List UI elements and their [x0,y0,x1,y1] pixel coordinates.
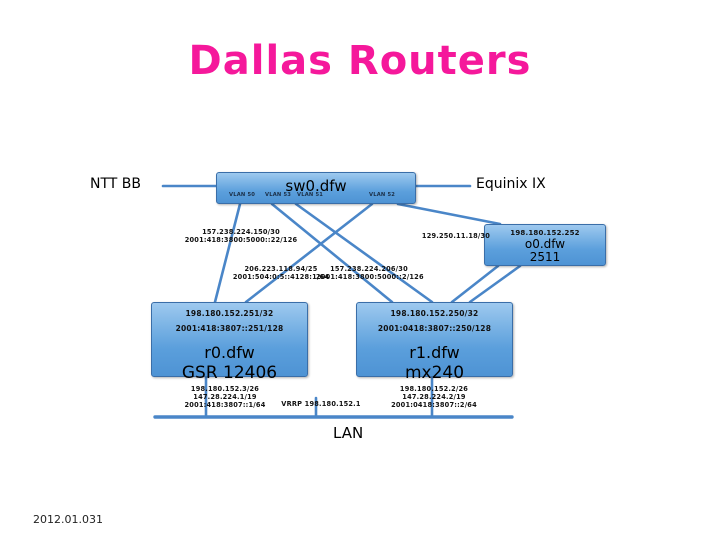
r1-address-2: 2001:0418:3807::250/128 [357,318,512,333]
annotation-lan-right: 198.180.152.2/26 147.28.224.2/19 2001:04… [364,385,504,410]
label-lan: LAN [333,424,363,442]
r1-address-1: 198.180.152.250/32 [357,303,512,318]
r0-address-2: 2001:418:3807::251/128 [152,318,307,333]
link-o0-to-r0 [470,266,520,302]
annotation-ntt-uplink-line2: 2001:418:3800:5000::22/126 [168,236,314,244]
annotation-ntt-uplink-line1: 157.238.224.150/30 [168,228,314,236]
link-vlan51-to-r1 [296,204,432,302]
r1-model: mx240 [357,363,512,384]
node-o0-dfw[interactable]: 198.180.152.252 o0.dfw 2511 [484,224,606,266]
annotation-lan-right-line2: 147.28.224.2/19 [364,393,504,401]
vlan-port-52: VLAN 52 [369,192,395,199]
annotation-lan-left-line1: 198.180.152.3/26 [157,385,293,393]
annotation-console-link-line1: 129.250.11.18/30 [404,232,508,240]
sw0-vlan-row: VLAN 50 VLAN 53 VLAN 51 VLAN 52 [217,192,415,201]
annotation-ntt-r1-uplink-line1: 157.238.224.206/30 [316,265,422,273]
r0-address-1: 198.180.152.251/32 [152,303,307,318]
r0-model: GSR 12406 [152,363,307,384]
link-o0-to-r1 [452,266,498,302]
o0-model: 2511 [485,251,605,264]
label-equinix-ix: Equinix IX [476,176,546,192]
r0-name: r0.dfw [152,333,307,363]
link-vlan53-to-r1 [272,204,392,302]
annotation-ntt-r1-uplink: 157.238.224.206/30 2001:418:3800:5000::2… [316,265,422,281]
vlan-port-51: VLAN 51 [297,192,323,199]
label-ntt-bb: NTT BB [90,176,141,192]
page-title: Dallas Routers [0,38,720,84]
link-vlan52-to-o0 [398,204,500,224]
annotation-lan-right-line3: 2001:0418:3807::2/64 [364,401,504,409]
vlan-port-53: VLAN 53 [265,192,291,199]
link-vlan52-to-r0 [246,204,372,302]
annotation-lan-right-line1: 198.180.152.2/26 [364,385,504,393]
r1-name: r1.dfw [357,333,512,363]
slide-canvas: Dallas Routers NTT BB Equinix IX LAN sw0… [0,0,720,540]
slide-footer-date: 2012.01.031 [33,513,103,526]
link-vlan50-to-r0 [215,204,240,302]
annotation-console-link: 129.250.11.18/30 [404,232,508,240]
annotation-vrrp-line1: VRRP 198.180.152.1 [269,400,373,408]
annotation-ntt-r1-uplink-line2: 2001:418:3800:5000::2/126 [316,273,422,281]
annotation-vrrp: VRRP 198.180.152.1 [269,400,373,408]
node-r1-dfw[interactable]: 198.180.152.250/32 2001:0418:3807::250/1… [356,302,513,377]
vlan-port-50: VLAN 50 [229,192,255,199]
node-r0-dfw[interactable]: 198.180.152.251/32 2001:418:3807::251/12… [151,302,308,377]
node-sw0-dfw[interactable]: sw0.dfw VLAN 50 VLAN 53 VLAN 51 VLAN 52 [216,172,416,204]
annotation-ntt-uplink: 157.238.224.150/30 2001:418:3800:5000::2… [168,228,314,244]
